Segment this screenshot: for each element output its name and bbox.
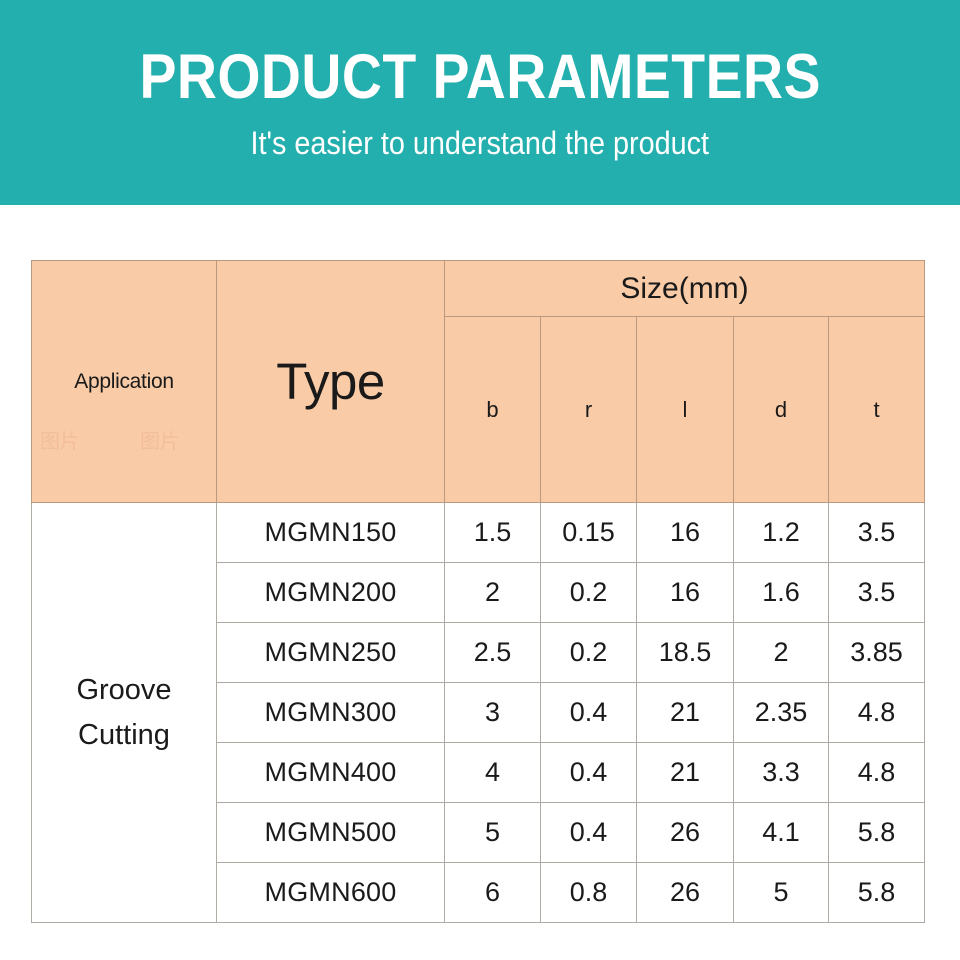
cell-r: 0.4 — [541, 743, 637, 803]
column-header-b: b — [445, 317, 541, 503]
watermark-mark-2: 图片 — [140, 425, 179, 454]
cell-d: 1.6 — [734, 563, 829, 623]
table-body: Groove Cutting MGMN150 1.5 0.15 16 1.2 3… — [32, 503, 925, 923]
cell-l: 21 — [637, 683, 734, 743]
cell-t: 4.8 — [829, 743, 925, 803]
page-subtitle: It's easier to understand the product — [251, 127, 710, 159]
cell-b: 4 — [445, 743, 541, 803]
cell-type: MGMN200 — [217, 563, 445, 623]
cell-l: 18.5 — [637, 623, 734, 683]
cell-d: 2 — [734, 623, 829, 683]
cell-d: 3.3 — [734, 743, 829, 803]
cell-b: 5 — [445, 803, 541, 863]
cell-r: 0.8 — [541, 863, 637, 923]
cell-l: 26 — [637, 803, 734, 863]
cell-t: 4.8 — [829, 683, 925, 743]
cell-b: 3 — [445, 683, 541, 743]
cell-d: 1.2 — [734, 503, 829, 563]
cell-t: 3.85 — [829, 623, 925, 683]
column-header-application: Application 图片 图片 — [32, 261, 217, 503]
page-banner: PRODUCT PARAMETERS It's easier to unders… — [0, 0, 960, 205]
column-header-l: l — [637, 317, 734, 503]
cell-l: 21 — [637, 743, 734, 803]
cell-type: MGMN250 — [217, 623, 445, 683]
cell-type: MGMN150 — [217, 503, 445, 563]
table-header-row-group: Application 图片 图片 Type Size(mm) — [32, 261, 925, 317]
column-header-size-group: Size(mm) — [445, 261, 925, 317]
column-header-size-label: Size(mm) — [620, 272, 748, 305]
cell-r: 0.15 — [541, 503, 637, 563]
cell-l: 16 — [637, 563, 734, 623]
cell-r: 0.2 — [541, 623, 637, 683]
cell-application-groove-cutting: Groove Cutting — [32, 503, 217, 923]
cell-t: 3.5 — [829, 563, 925, 623]
column-header-t: t — [829, 317, 925, 503]
table-header: Application 图片 图片 Type Size(mm) b r l d — [32, 261, 925, 503]
application-line-2: Cutting — [32, 713, 216, 758]
cell-type: MGMN300 — [217, 683, 445, 743]
table-row: Groove Cutting MGMN150 1.5 0.15 16 1.2 3… — [32, 503, 925, 563]
cell-l: 26 — [637, 863, 734, 923]
cell-b: 6 — [445, 863, 541, 923]
cell-b: 1.5 — [445, 503, 541, 563]
product-parameters-table: Application 图片 图片 Type Size(mm) b r l d — [31, 260, 925, 923]
column-header-type: Type — [217, 261, 445, 503]
cell-b: 2.5 — [445, 623, 541, 683]
page-title: PRODUCT PARAMETERS — [139, 46, 820, 109]
cell-t: 3.5 — [829, 503, 925, 563]
cell-type: MGMN600 — [217, 863, 445, 923]
cell-b: 2 — [445, 563, 541, 623]
watermark-mark-1: 图片 — [40, 425, 79, 454]
column-header-type-label: Type — [276, 353, 385, 410]
spec-table-container: Application 图片 图片 Type Size(mm) b r l d — [0, 205, 960, 923]
cell-type: MGMN500 — [217, 803, 445, 863]
cell-d: 4.1 — [734, 803, 829, 863]
cell-d: 2.35 — [734, 683, 829, 743]
column-header-r: r — [541, 317, 637, 503]
cell-t: 5.8 — [829, 803, 925, 863]
cell-d: 5 — [734, 863, 829, 923]
application-line-1: Groove — [32, 668, 216, 713]
cell-r: 0.4 — [541, 803, 637, 863]
cell-t: 5.8 — [829, 863, 925, 923]
cell-r: 0.4 — [541, 683, 637, 743]
cell-l: 16 — [637, 503, 734, 563]
cell-type: MGMN400 — [217, 743, 445, 803]
cell-r: 0.2 — [541, 563, 637, 623]
column-header-d: d — [734, 317, 829, 503]
column-header-application-label: Application — [74, 370, 173, 393]
